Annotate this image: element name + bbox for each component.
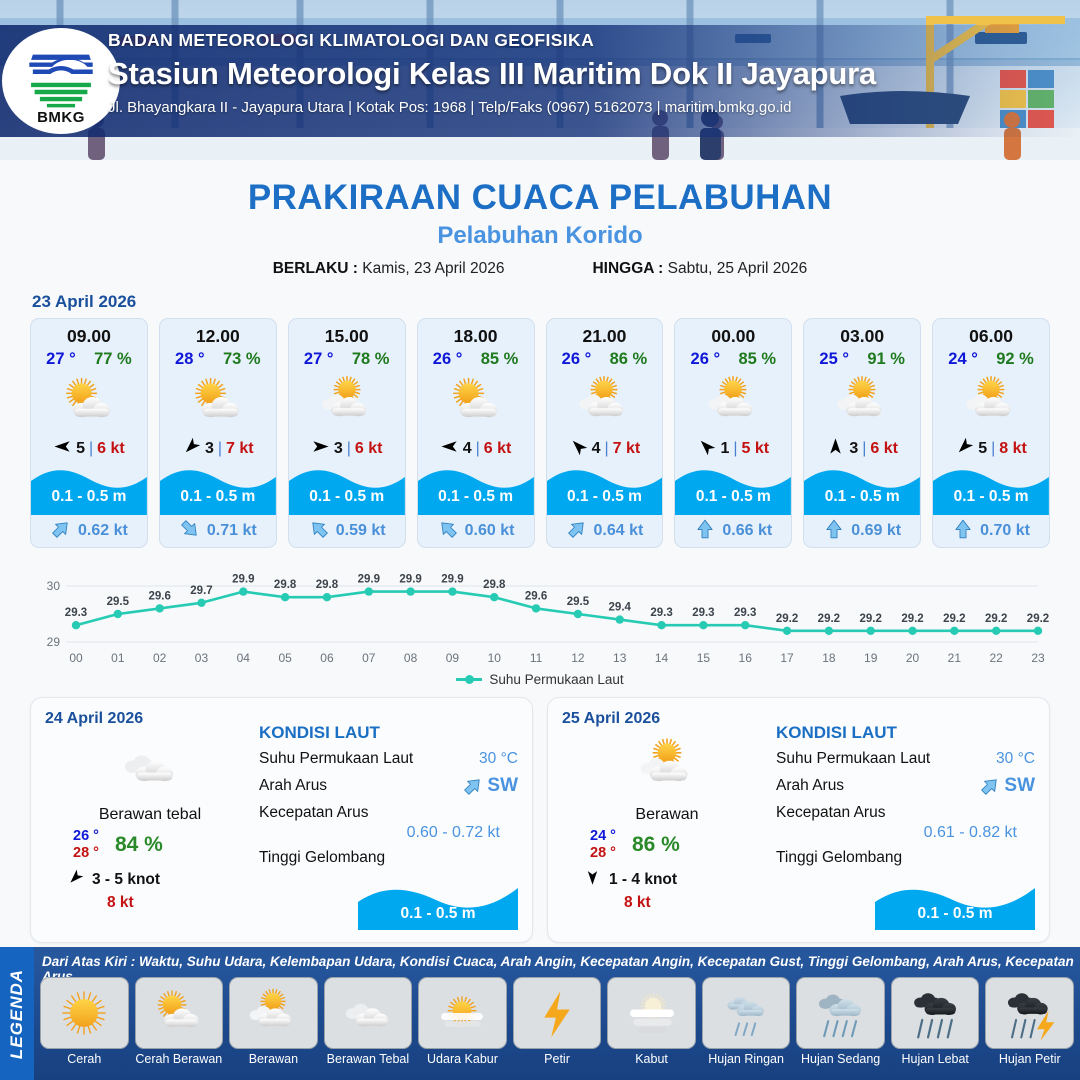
sst-value: 30 °C — [479, 750, 518, 768]
hourly-current: 0.71 kt — [160, 515, 276, 547]
current-speed: 0.66 kt — [722, 522, 772, 540]
current-arrow-S — [823, 518, 845, 540]
legend-item: Kabut — [607, 977, 696, 1066]
hourly-humidity: 91 % — [867, 350, 905, 369]
hourly-temp-humidity: 26 ° 85 % — [675, 350, 791, 369]
current-speed: 0.62 kt — [78, 522, 128, 540]
wave-height-value: 0.1 - 0.5 m — [675, 488, 791, 506]
hourly-temp-humidity: 26 ° 86 % — [547, 350, 663, 369]
hourly-wind: 3 | 7 kt — [160, 437, 276, 461]
sst-chart: 293029.30029.50129.60229.70329.90429.805… — [28, 560, 1052, 670]
hourly-time: 06.00 — [933, 326, 1049, 347]
current-direction-label: Arah Arus — [776, 777, 844, 795]
berlaku-group: BERLAKU : Kamis, 23 April 2026 — [273, 260, 505, 278]
weather-icon-cerah-berawan — [31, 371, 147, 433]
hourly-temperature: 26 ° — [433, 350, 463, 369]
hourly-time: 18.00 — [418, 326, 534, 347]
svg-text:29.3: 29.3 — [650, 607, 672, 619]
svg-text:00: 00 — [69, 651, 83, 665]
bmkg-logo: BMKG — [2, 28, 120, 134]
wind-direction-icon — [440, 437, 459, 461]
svg-text:29.2: 29.2 — [943, 613, 965, 625]
svg-text:29.3: 29.3 — [734, 607, 756, 619]
wind-gust: 6 kt — [97, 440, 125, 458]
legend-icon-hujan-petir — [985, 977, 1074, 1049]
wind-arrow-SW — [182, 437, 201, 456]
daily-wind: 1 - 4 knot — [562, 869, 772, 891]
hourly-forecast-row: 09.00 27 ° 77 % 5 | 6 kt 0.1 - 0.5 m — [0, 318, 1080, 548]
hourly-wind: 1 | 5 kt — [675, 437, 791, 461]
daily-card: 25 April 2026 Berawan 24 ° 28 ° 86 % — [547, 697, 1050, 943]
hourly-temp-humidity: 27 ° 77 % — [31, 350, 147, 369]
sst-label: Suhu Permukaan Laut — [259, 750, 413, 768]
daily-wave-value: 0.1 - 0.5 m — [358, 905, 518, 923]
svg-text:29.2: 29.2 — [985, 613, 1007, 625]
daily-date: 25 April 2026 — [562, 710, 772, 728]
svg-text:02: 02 — [153, 651, 167, 665]
current-arrow-S — [952, 518, 974, 540]
hourly-temperature: 26 ° — [691, 350, 721, 369]
wind-separator: | — [733, 440, 737, 458]
legend-item-label: Udara Kabur — [418, 1052, 507, 1066]
legend-item: Hujan Petir — [985, 977, 1074, 1066]
daily-card: 24 April 2026 Berawan tebal 26 ° 28 ° 84… — [30, 697, 533, 943]
wave-height-block: 0.1 - 0.5 m — [31, 463, 147, 515]
wave-height-value: 0.1 - 0.5 m — [547, 488, 663, 506]
svg-text:29.2: 29.2 — [860, 613, 882, 625]
wind-separator: | — [605, 440, 609, 458]
wave-height-value: 0.1 - 0.5 m — [31, 488, 147, 506]
wind-gust: 6 kt — [355, 440, 383, 458]
current-direction-label: Arah Arus — [259, 777, 327, 795]
daily-wind-range: 1 - 4 knot — [609, 871, 677, 889]
current-arrow-SE — [308, 518, 330, 540]
current-direction-value: SW — [979, 775, 1035, 797]
daily-temperatures: 26 ° 28 ° — [73, 828, 99, 861]
daily-sea-conditions: KONDISI LAUT Suhu Permukaan Laut 30 °C A… — [255, 710, 518, 932]
legend-item: Cerah — [40, 977, 129, 1066]
svg-text:20: 20 — [906, 651, 920, 665]
wave-height-value: 0.1 - 0.5 m — [418, 488, 534, 506]
svg-text:13: 13 — [613, 651, 627, 665]
legend-item: Udara Kabur — [418, 977, 507, 1066]
hourly-card: 15.00 27 ° 78 % 3 | 6 kt — [288, 318, 406, 548]
hourly-card: 00.00 26 ° 85 % 1 | 5 kt — [674, 318, 792, 548]
wave-height-label: Tinggi Gelombang — [776, 849, 902, 867]
weather-icon-berawan — [562, 734, 772, 798]
validity-row: BERLAKU : Kamis, 23 April 2026 HINGGA : … — [0, 260, 1080, 278]
legend-item-label: Cerah Berawan — [135, 1052, 224, 1066]
hourly-card: 21.00 26 ° 86 % 4 | 7 kt — [546, 318, 664, 548]
hingga-value: Sabtu, 25 April 2026 — [668, 260, 808, 277]
wind-direction-icon — [826, 437, 845, 461]
daily-temp-max: 28 ° — [73, 845, 99, 862]
weather-icon-berawan — [289, 371, 405, 433]
current-arrow-SW — [979, 775, 1001, 797]
page-subtitle: Pelabuhan Korido — [0, 222, 1080, 250]
current-arrow-NW — [179, 518, 201, 540]
daily-sea-conditions: KONDISI LAUT Suhu Permukaan Laut 30 °C A… — [772, 710, 1035, 932]
hourly-temperature: 27 ° — [304, 350, 334, 369]
wave-height-row: Tinggi Gelombang — [259, 849, 518, 867]
daily-temperatures: 24 ° 28 ° — [590, 828, 616, 861]
legend-item-label: Berawan Tebal — [324, 1052, 413, 1066]
svg-text:10: 10 — [488, 651, 502, 665]
legend-side-label: LEGENDA — [0, 947, 34, 1080]
svg-text:18: 18 — [822, 651, 836, 665]
wind-direction-icon — [955, 437, 974, 461]
daily-humidity: 86 % — [632, 833, 680, 857]
daily-date: 24 April 2026 — [45, 710, 255, 728]
wind-separator: | — [862, 440, 866, 458]
legend-item: Hujan Sedang — [796, 977, 885, 1066]
sea-condition-title: KONDISI LAUT — [776, 723, 1035, 743]
hourly-card: 03.00 25 ° 91 % 3 | 6 kt — [803, 318, 921, 548]
current-speed-row: Kecepatan Arus — [259, 804, 518, 822]
daily-wave-value: 0.1 - 0.5 m — [875, 905, 1035, 923]
current-direction-icon — [566, 518, 588, 545]
current-direction-icon — [50, 518, 72, 545]
wind-separator: | — [218, 440, 222, 458]
current-direction-icon — [823, 518, 845, 545]
hourly-temperature: 24 ° — [948, 350, 978, 369]
daily-gust: 8 kt — [562, 894, 772, 912]
hourly-temperature: 28 ° — [175, 350, 205, 369]
bmkg-logo-text: BMKG — [17, 109, 105, 126]
wind-direction-icon — [697, 437, 716, 461]
wind-separator: | — [991, 440, 995, 458]
daily-humidity: 84 % — [115, 833, 163, 857]
wave-height-value: 0.1 - 0.5 m — [289, 488, 405, 506]
hourly-temp-humidity: 26 ° 85 % — [418, 350, 534, 369]
sst-value: 30 °C — [996, 750, 1035, 768]
hourly-date: 23 April 2026 — [32, 292, 1080, 312]
legend-item-label: Kabut — [607, 1052, 696, 1066]
wind-speed: 3 — [205, 440, 214, 458]
hourly-temp-humidity: 25 ° 91 % — [804, 350, 920, 369]
daily-gust: 8 kt — [45, 894, 255, 912]
current-speed: 0.64 kt — [594, 522, 644, 540]
hourly-time: 15.00 — [289, 326, 405, 347]
svg-text:29.3: 29.3 — [692, 607, 714, 619]
hourly-card: 18.00 26 ° 85 % 4 | 6 kt 0.1 - 0.5 m — [417, 318, 535, 548]
svg-text:23: 23 — [1031, 651, 1045, 665]
current-speed: 0.69 kt — [851, 522, 901, 540]
current-direction-row: Arah Arus SW — [776, 775, 1035, 797]
hourly-time: 09.00 — [31, 326, 147, 347]
legend-icon-berawan-tebal — [324, 977, 413, 1049]
wind-arrow-E — [311, 437, 330, 456]
hourly-time: 00.00 — [675, 326, 791, 347]
current-direction-row: Arah Arus SW — [259, 775, 518, 797]
hourly-humidity: 73 % — [223, 350, 261, 369]
legend-icon-udara-kabur — [418, 977, 507, 1049]
legend-item-label: Hujan Petir — [985, 1052, 1074, 1066]
legend-item: Hujan Lebat — [891, 977, 980, 1066]
svg-text:12: 12 — [571, 651, 585, 665]
hourly-humidity: 78 % — [352, 350, 390, 369]
svg-text:14: 14 — [655, 651, 669, 665]
svg-text:29.8: 29.8 — [316, 579, 339, 591]
wind-speed: 3 — [334, 440, 343, 458]
hourly-time: 03.00 — [804, 326, 920, 347]
legend-icon-hujan-lebat — [891, 977, 980, 1049]
chart-legend-label: Suhu Permukaan Laut — [489, 672, 623, 687]
wave-height-value: 0.1 - 0.5 m — [933, 488, 1049, 506]
wind-speed: 1 — [720, 440, 729, 458]
berlaku-value: Kamis, 23 April 2026 — [362, 260, 504, 277]
wind-gust: 7 kt — [613, 440, 641, 458]
wind-speed: 5 — [76, 440, 85, 458]
current-direction-icon — [694, 518, 716, 545]
hourly-temperature: 26 ° — [562, 350, 592, 369]
legend-icon-cerah — [40, 977, 129, 1049]
svg-text:29.5: 29.5 — [107, 596, 130, 608]
svg-text:29.6: 29.6 — [525, 590, 547, 602]
daily-left: 25 April 2026 Berawan 24 ° 28 ° 86 % — [562, 710, 772, 932]
chart-legend: Suhu Permukaan Laut — [0, 672, 1080, 687]
wave-height-block: 0.1 - 0.5 m — [547, 463, 663, 515]
hingga-group: HINGGA : Sabtu, 25 April 2026 — [592, 260, 807, 278]
current-speed-row: Kecepatan Arus — [776, 804, 1035, 822]
agency-name: BADAN METEOROLOGI KLIMATOLOGI DAN GEOFIS… — [108, 30, 1008, 51]
legend-item-label: Hujan Lebat — [891, 1052, 980, 1066]
hourly-temp-humidity: 28 ° 73 % — [160, 350, 276, 369]
svg-text:09: 09 — [446, 651, 460, 665]
wind-direction-icon — [569, 437, 588, 461]
wave-height-label: Tinggi Gelombang — [259, 849, 385, 867]
wind-separator: | — [89, 440, 93, 458]
svg-text:29.5: 29.5 — [567, 596, 590, 608]
wind-direction-icon — [311, 437, 330, 461]
current-arrow-SW — [50, 518, 72, 540]
svg-text:29.9: 29.9 — [232, 574, 254, 586]
legend-side-text: LEGENDA — [7, 968, 27, 1058]
hourly-temp-humidity: 27 ° 78 % — [289, 350, 405, 369]
svg-text:29.2: 29.2 — [1027, 613, 1049, 625]
title-block: PRAKIRAAN CUACA PELABUHAN Pelabuhan Kori… — [0, 178, 1080, 278]
current-direction-value: SW — [462, 775, 518, 797]
wind-gust: 6 kt — [870, 440, 898, 458]
current-direction-icon — [952, 518, 974, 545]
hourly-time: 21.00 — [547, 326, 663, 347]
weather-icon-berawan — [547, 371, 663, 433]
svg-text:29.2: 29.2 — [818, 613, 840, 625]
weather-icon-cerah-berawan — [418, 371, 534, 433]
wave-height-block: 0.1 - 0.5 m — [289, 463, 405, 515]
hourly-wind: 4 | 7 kt — [547, 437, 663, 461]
daily-condition: Berawan — [562, 806, 772, 824]
hourly-temperature: 25 ° — [819, 350, 849, 369]
daily-condition: Berawan tebal — [45, 806, 255, 824]
wind-direction-icon — [182, 437, 201, 461]
hourly-current: 0.60 kt — [418, 515, 534, 547]
wave-height-block: 0.1 - 0.5 m — [160, 463, 276, 515]
wind-speed: 5 — [978, 440, 987, 458]
wind-separator: | — [347, 440, 351, 458]
legend-item: Petir — [513, 977, 602, 1066]
svg-text:29.9: 29.9 — [358, 574, 380, 586]
svg-text:19: 19 — [864, 651, 878, 665]
wave-height-block: 0.1 - 0.5 m — [933, 463, 1049, 515]
weather-icon-berawan — [804, 371, 920, 433]
svg-text:04: 04 — [237, 651, 251, 665]
hourly-wind: 3 | 6 kt — [289, 437, 405, 461]
current-speed: 0.71 kt — [207, 522, 257, 540]
legend-item: Berawan — [229, 977, 318, 1066]
weather-icon-berawan — [933, 371, 1049, 433]
svg-text:29.4: 29.4 — [609, 602, 632, 614]
hourly-card: 06.00 24 ° 92 % 5 | 8 kt — [932, 318, 1050, 548]
current-arrow-SW — [462, 775, 484, 797]
wind-arrow-NW — [697, 437, 716, 456]
chart-legend-marker — [456, 678, 482, 681]
svg-text:16: 16 — [739, 651, 753, 665]
daily-temp-min: 24 ° — [590, 828, 616, 845]
wind-arrow-SW — [67, 869, 84, 886]
wind-speed: 4 — [463, 440, 472, 458]
hourly-humidity: 85 % — [738, 350, 776, 369]
svg-text:03: 03 — [195, 651, 209, 665]
hourly-current: 0.64 kt — [547, 515, 663, 547]
station-name: Stasiun Meteorologi Kelas III Maritim Do… — [108, 56, 1008, 92]
wind-direction-icon — [584, 869, 601, 891]
legend-items: Cerah Cerah Berawan Berawan — [40, 977, 1074, 1066]
svg-text:01: 01 — [111, 651, 125, 665]
daily-wind-range: 3 - 5 knot — [92, 871, 160, 889]
wave-height-row: Tinggi Gelombang — [776, 849, 1035, 867]
station-address: Jl. Bhayangkara II - Jayapura Utara | Ko… — [108, 99, 1008, 116]
wind-gust: 7 kt — [226, 440, 254, 458]
svg-text:11: 11 — [530, 651, 543, 665]
hourly-wind: 5 | 8 kt — [933, 437, 1049, 461]
wind-arrow-SW — [955, 437, 974, 456]
svg-text:29.8: 29.8 — [483, 579, 506, 591]
hourly-current: 0.62 kt — [31, 515, 147, 547]
hourly-current: 0.66 kt — [675, 515, 791, 547]
wind-speed: 4 — [592, 440, 601, 458]
svg-text:07: 07 — [362, 651, 376, 665]
legend-item: Berawan Tebal — [324, 977, 413, 1066]
svg-text:30: 30 — [47, 579, 61, 593]
svg-text:06: 06 — [320, 651, 334, 665]
hourly-humidity: 77 % — [94, 350, 132, 369]
page-header: BMKG BADAN METEOROLOGI KLIMATOLOGI DAN G… — [0, 0, 1080, 160]
wind-arrow-NW — [569, 437, 588, 456]
current-speed-value: 0.60 - 0.72 kt — [259, 824, 518, 842]
wave-height-block: 0.1 - 0.5 m — [418, 463, 534, 515]
daily-temp-max: 28 ° — [590, 845, 616, 862]
current-direction-icon — [179, 518, 201, 545]
hourly-current: 0.59 kt — [289, 515, 405, 547]
hourly-wind: 4 | 6 kt — [418, 437, 534, 461]
legend-icon-berawan — [229, 977, 318, 1049]
current-speed: 0.60 kt — [465, 522, 515, 540]
current-direction-icon — [437, 518, 459, 545]
current-arrow-SW — [566, 518, 588, 540]
wind-gust: 5 kt — [742, 440, 770, 458]
sst-row: Suhu Permukaan Laut 30 °C — [259, 750, 518, 768]
hourly-current: 0.69 kt — [804, 515, 920, 547]
wave-height-value: 0.1 - 0.5 m — [804, 488, 920, 506]
wave-height-value: 0.1 - 0.5 m — [160, 488, 276, 506]
wind-gust: 6 kt — [484, 440, 512, 458]
wind-gust: 8 kt — [999, 440, 1027, 458]
hourly-humidity: 85 % — [481, 350, 519, 369]
legend-item: Hujan Ringan — [702, 977, 791, 1066]
svg-text:22: 22 — [989, 651, 1003, 665]
svg-text:29.8: 29.8 — [274, 579, 297, 591]
svg-text:29.3: 29.3 — [65, 607, 87, 619]
current-direction-icon — [308, 518, 330, 545]
hourly-current: 0.70 kt — [933, 515, 1049, 547]
wave-height-block: 0.1 - 0.5 m — [675, 463, 791, 515]
hourly-temp-humidity: 24 ° 92 % — [933, 350, 1049, 369]
daily-forecast-row: 24 April 2026 Berawan tebal 26 ° 28 ° 84… — [0, 687, 1080, 943]
weather-icon-berawan — [675, 371, 791, 433]
legend-item: Cerah Berawan — [135, 977, 224, 1066]
svg-text:29.6: 29.6 — [148, 590, 170, 602]
current-speed-value: 0.61 - 0.82 kt — [776, 824, 1035, 842]
svg-text:17: 17 — [780, 651, 794, 665]
current-arrow-SE — [437, 518, 459, 540]
hourly-temperature: 27 ° — [46, 350, 76, 369]
svg-text:21: 21 — [948, 651, 962, 665]
legend-icon-cerah-berawan — [135, 977, 224, 1049]
berlaku-label: BERLAKU : — [273, 260, 358, 277]
wind-arrow-W — [53, 437, 72, 456]
svg-text:29.2: 29.2 — [776, 613, 798, 625]
legend-item-label: Cerah — [40, 1052, 129, 1066]
wave-height-block: 0.1 - 0.5 m — [804, 463, 920, 515]
current-speed: 0.70 kt — [980, 522, 1030, 540]
page-title: PRAKIRAAN CUACA PELABUHAN — [0, 178, 1080, 218]
wind-separator: | — [476, 440, 480, 458]
legend-icon-hujan-sedang — [796, 977, 885, 1049]
svg-text:08: 08 — [404, 651, 418, 665]
hourly-card: 09.00 27 ° 77 % 5 | 6 kt 0.1 - 0.5 m — [30, 318, 148, 548]
svg-text:29.2: 29.2 — [901, 613, 923, 625]
legend-item-label: Petir — [513, 1052, 602, 1066]
daily-temp-block: 26 ° 28 ° 84 % — [45, 828, 255, 861]
daily-temp-block: 24 ° 28 ° 86 % — [562, 828, 772, 861]
svg-text:29.9: 29.9 — [399, 574, 421, 586]
sst-label: Suhu Permukaan Laut — [776, 750, 930, 768]
daily-temp-min: 26 ° — [73, 828, 99, 845]
weather-icon-cerah-berawan — [160, 371, 276, 433]
hourly-wind: 3 | 6 kt — [804, 437, 920, 461]
wind-direction-icon — [53, 437, 72, 461]
svg-text:15: 15 — [697, 651, 711, 665]
hourly-humidity: 86 % — [610, 350, 648, 369]
legend-icon-petir — [513, 977, 602, 1049]
hingga-label: HINGGA : — [592, 260, 663, 277]
legend-bar: LEGENDA Dari Atas Kiri : Waktu, Suhu Uda… — [0, 947, 1080, 1080]
wind-arrow-W — [440, 437, 459, 456]
sea-condition-title: KONDISI LAUT — [259, 723, 518, 743]
daily-left: 24 April 2026 Berawan tebal 26 ° 28 ° 84… — [45, 710, 255, 932]
wind-arrow-S — [584, 869, 601, 886]
wind-speed: 3 — [849, 440, 858, 458]
legend-icon-hujan-ringan — [702, 977, 791, 1049]
daily-wind: 3 - 5 knot — [45, 869, 255, 891]
hourly-time: 12.00 — [160, 326, 276, 347]
legend-item-label: Hujan Ringan — [702, 1052, 791, 1066]
legend-item-label: Berawan — [229, 1052, 318, 1066]
svg-text:05: 05 — [278, 651, 292, 665]
hourly-card: 12.00 28 ° 73 % 3 | 7 kt 0.1 - 0.5 m — [159, 318, 277, 548]
legend-item-label: Hujan Sedang — [796, 1052, 885, 1066]
